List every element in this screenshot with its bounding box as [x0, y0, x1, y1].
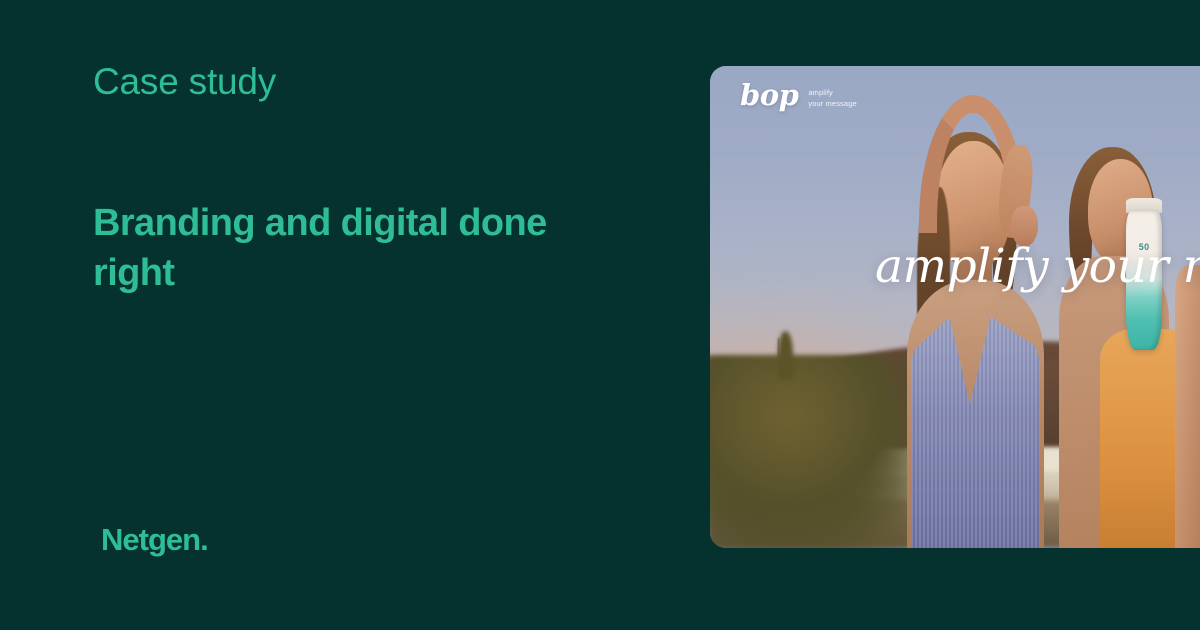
bop-tagline-line1: amplify: [808, 88, 832, 97]
model-back-arm: [1175, 265, 1200, 548]
page-title: Branding and digital done right: [93, 198, 563, 298]
left-text-column: Case study Branding and digital done rig…: [93, 0, 693, 630]
eyebrow-label: Case study: [93, 62, 276, 103]
netgen-logo[interactable]: Netgen.: [101, 524, 208, 555]
bop-tagline-line2: your message: [808, 99, 856, 108]
netgen-logo-text: Netgen: [101, 522, 200, 557]
case-study-banner: Case study Branding and digital done rig…: [0, 0, 1200, 630]
bop-wordmark: bop: [740, 81, 798, 110]
netgen-logo-dot: .: [200, 522, 208, 557]
bop-tagline: amplify your message: [808, 81, 856, 110]
bop-hero-headline: amplify your m: [875, 239, 1200, 294]
bop-site-logo[interactable]: bop amplify your message: [740, 81, 857, 110]
pine-tree-tip: [778, 331, 794, 379]
case-study-image-card[interactable]: 50 bop amplify your message KOMPETE ampl…: [710, 66, 1200, 548]
